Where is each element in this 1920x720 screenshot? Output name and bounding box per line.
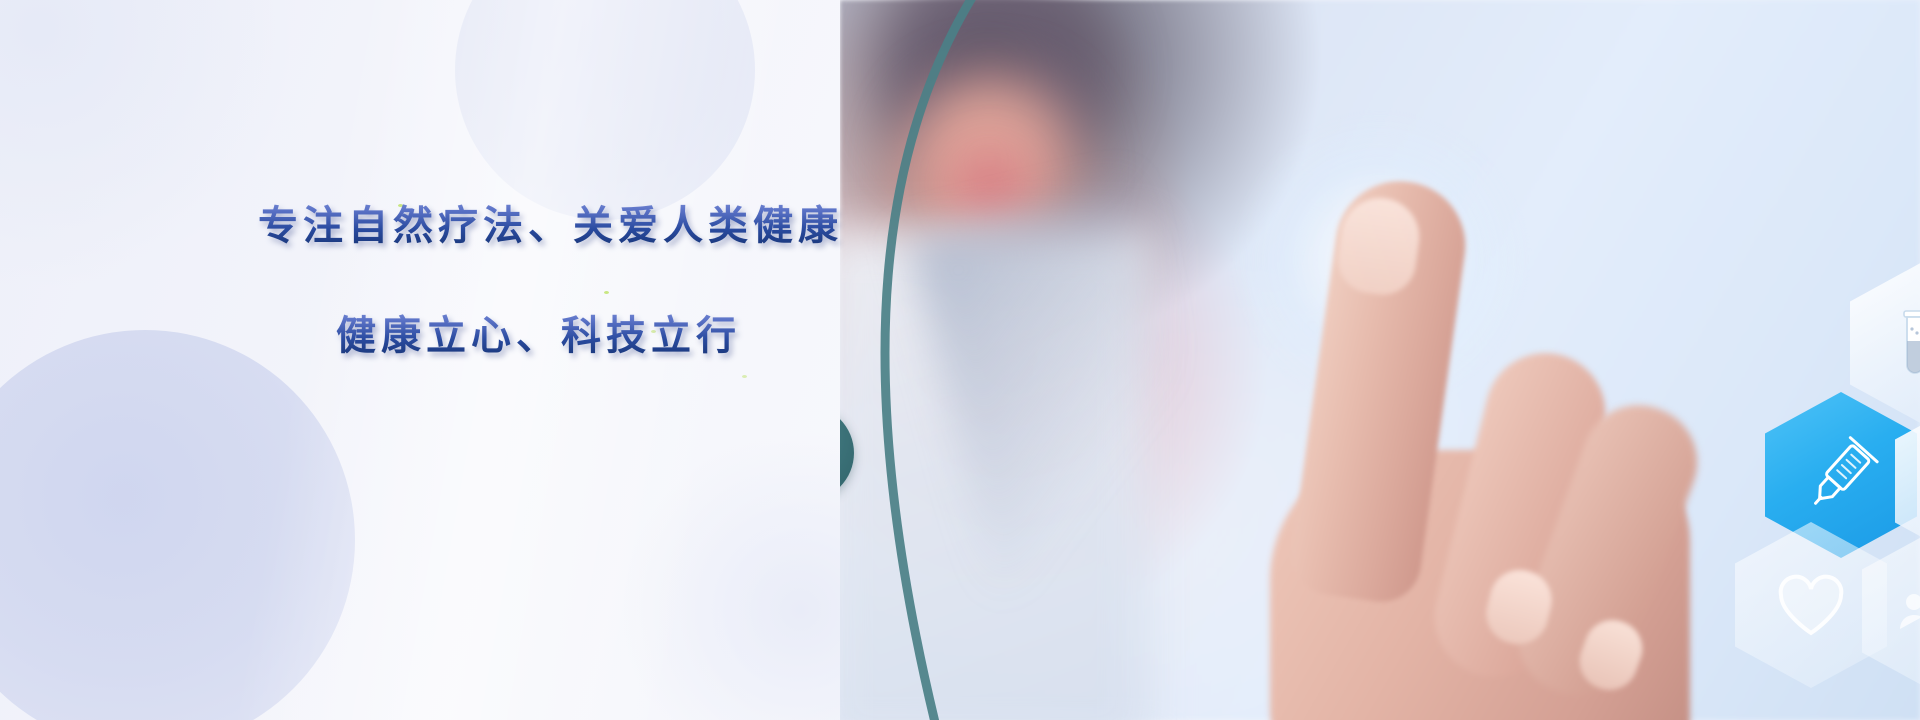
test-tubes-icon — [1886, 301, 1920, 385]
people-group-icon — [1896, 569, 1920, 653]
headline-secondary: 健康立心、科技立行 — [336, 303, 741, 361]
syringe-icon — [1799, 433, 1883, 517]
hexagon-people-group[interactable] — [1862, 528, 1920, 694]
headline-primary: 专注自然疗法、关爱人类健康 — [258, 193, 843, 251]
hero-photo — [840, 0, 1920, 720]
hexagon-syringe[interactable] — [1765, 392, 1917, 558]
headline-block: 专注自然疗法、关爱人类健康 健康立心、科技立行 — [0, 0, 880, 720]
hexagon-icon-cluster — [840, 0, 1920, 720]
hexagon-first-aid-kit[interactable] — [1895, 398, 1920, 564]
hexagon-test-tubes[interactable] — [1850, 260, 1920, 426]
heart-icon — [1769, 563, 1853, 647]
hero-banner: 专注自然疗法、关爱人类健康 健康立心、科技立行 — [0, 0, 1920, 720]
